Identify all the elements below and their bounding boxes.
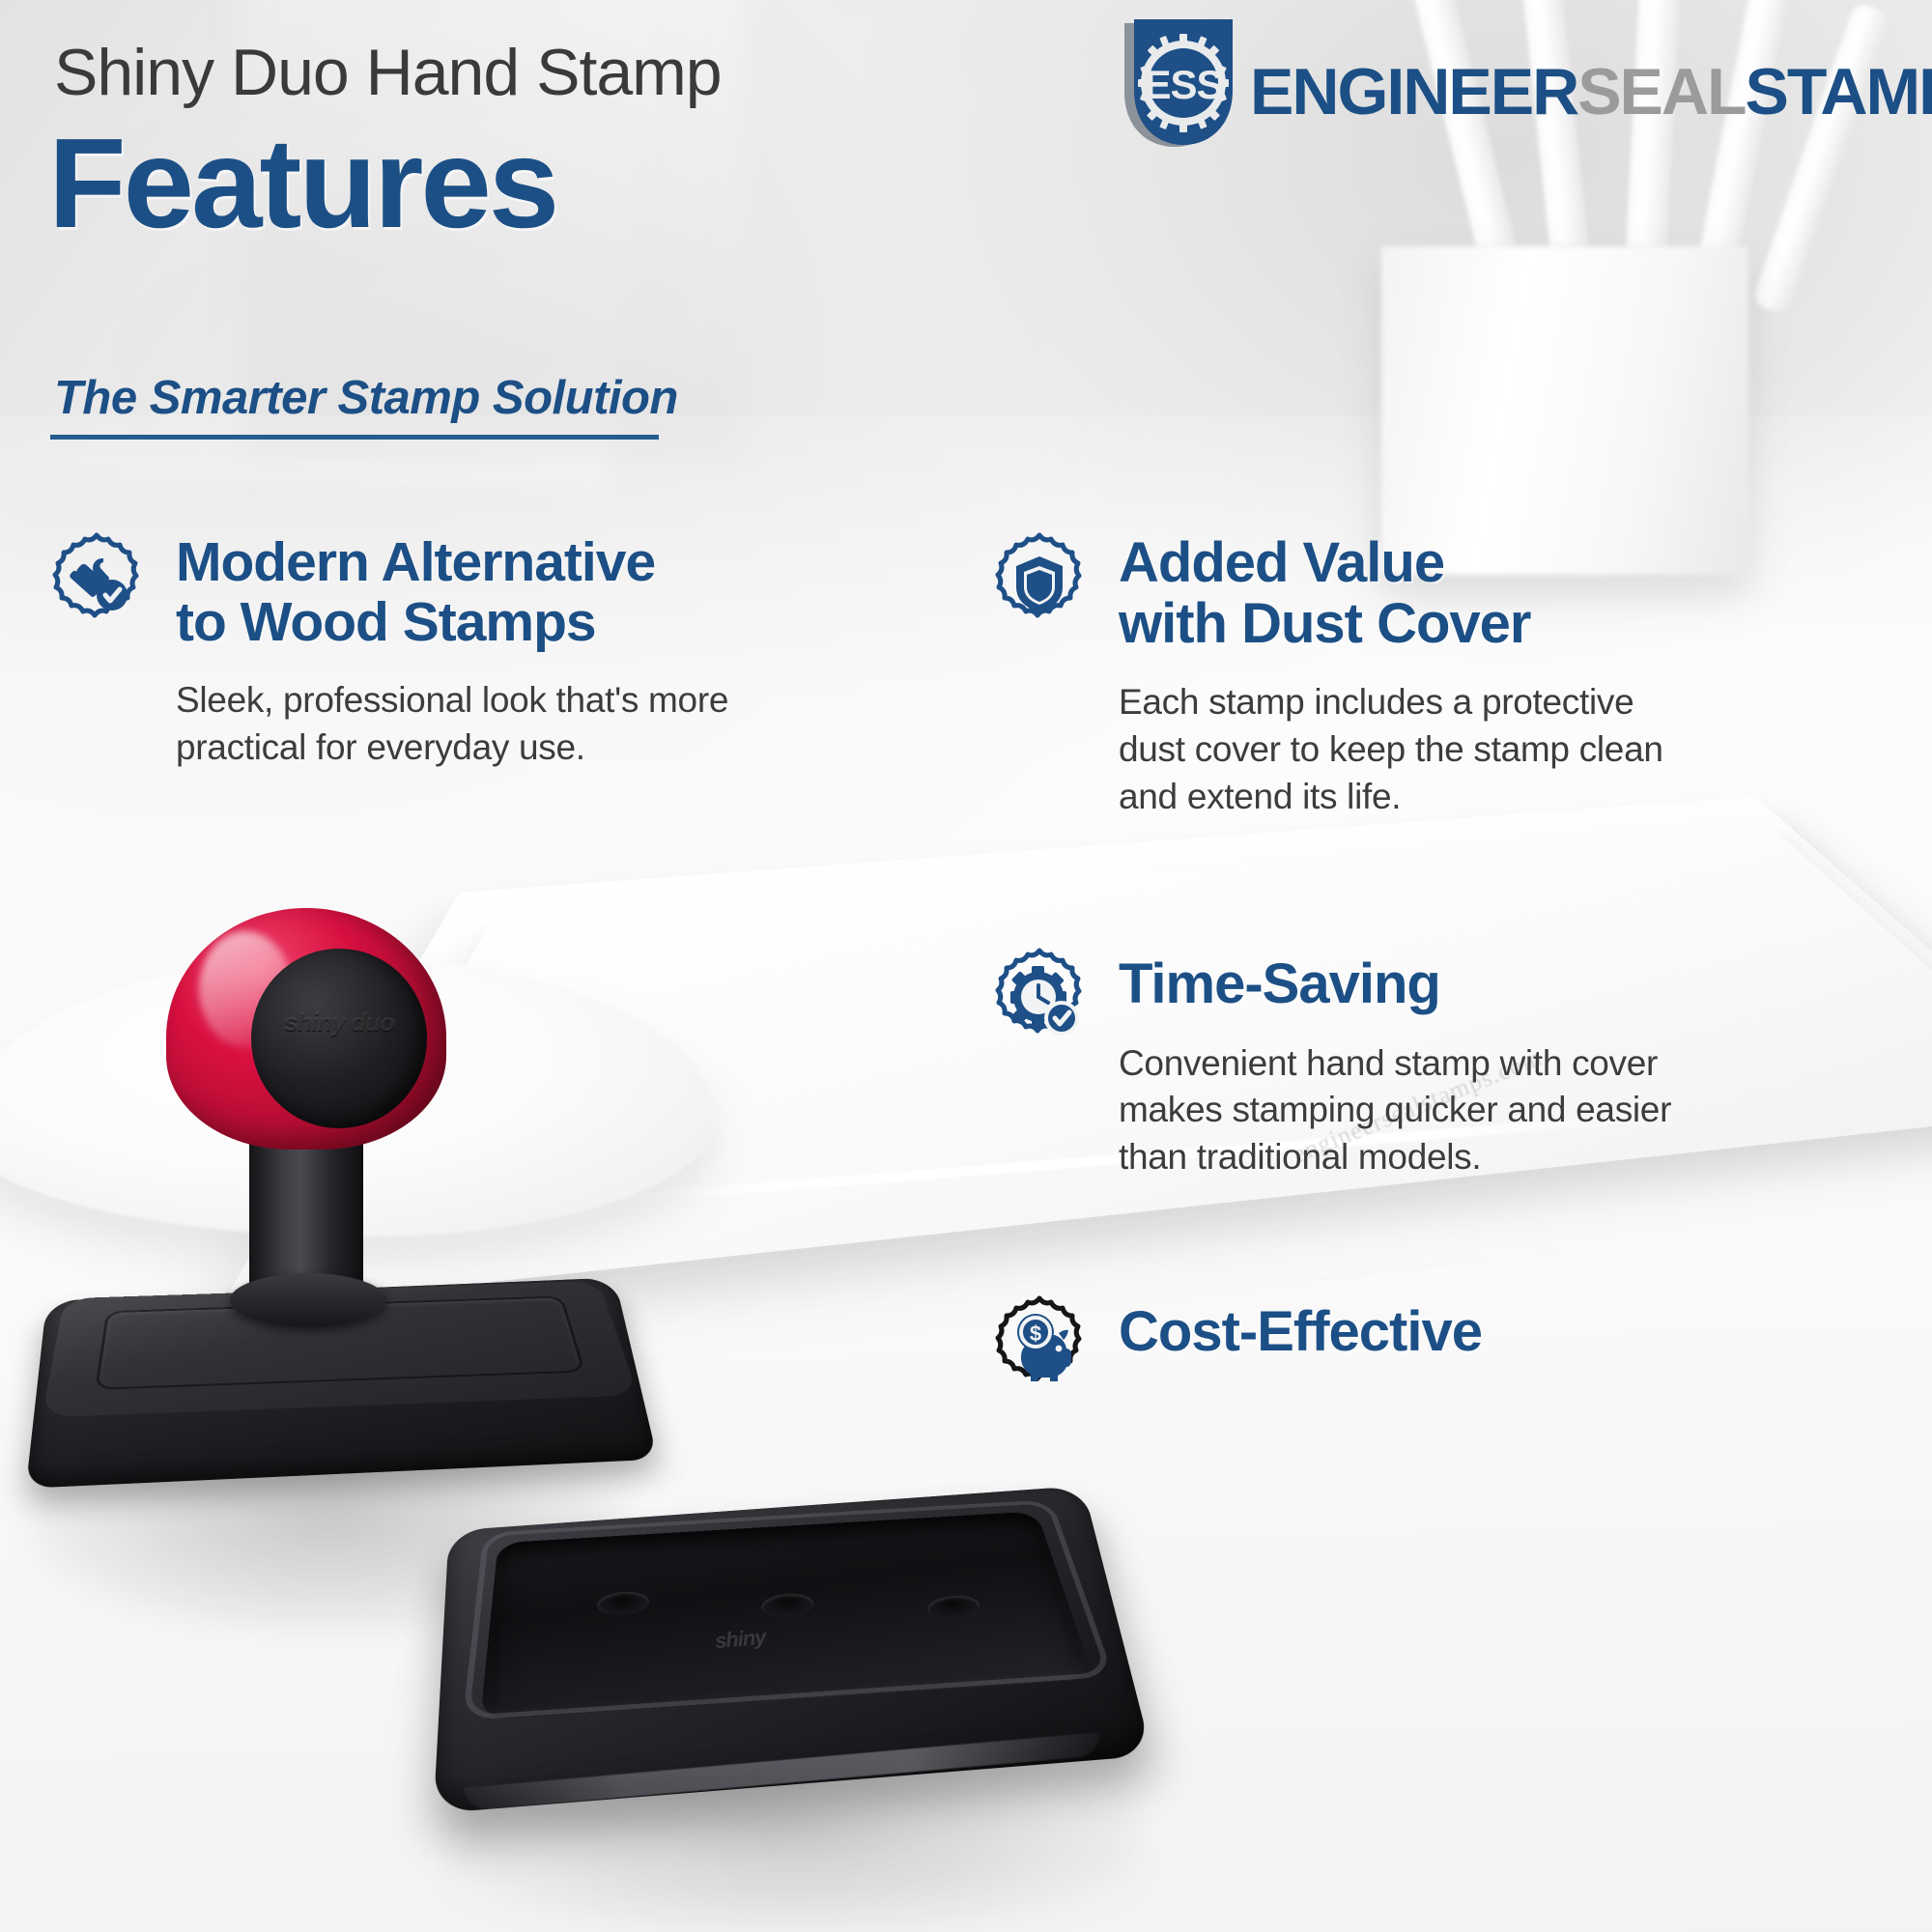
feature-heading: Cost-Effective [1119,1302,1482,1363]
feature-description: Convenient hand stamp with cover makes s… [1119,1040,1671,1181]
gear-clock-check-badge-icon [985,945,1094,1053]
stamp-black-cap [251,949,427,1128]
brand-word-engineer: ENGINEER [1250,59,1577,125]
feature-item-cost-effective: $ Cost-Effective [985,1293,1787,1401]
infographic-canvas: engineersealstamps.com Shiny Duo Hand St… [0,0,1932,1932]
feature-item-added-value: Added Value with Dust Cover Each stamp i… [985,529,1787,821]
page-title: Features [48,120,556,247]
stamp-brand-emboss: shiny duo [276,1007,402,1038]
brand-word-stamps: STAMPS [1746,59,1932,125]
product-dust-cover: shiny [425,1420,1179,1932]
shield-badge-icon [985,529,1094,638]
brand-logo[interactable]: ESS ENGINEERSEALSTAMPS.COM [1113,17,1932,153]
feature-text-block: Cost-Effective [1119,1293,1482,1401]
stamp-tool-check-badge-icon [43,529,151,638]
feature-item-time-saving: Time-Saving Convenient hand stamp with c… [985,945,1787,1181]
feature-item-modern-alternative: Modern Alternative to Wood Stamps Sleek,… [43,529,757,772]
feature-text-block: Time-Saving Convenient hand stamp with c… [1119,945,1671,1181]
piggy-bank-badge-icon: $ [985,1293,1094,1401]
tagline-underline [50,435,659,440]
feature-heading: Added Value with Dust Cover [1119,533,1663,654]
stamp-handle-collar [230,1273,386,1327]
page-tagline: The Smarter Stamp Solution [54,371,678,425]
brand-word-seal: SEAL [1577,59,1745,125]
feature-description: Sleek, professional look that's more pra… [176,677,728,772]
feature-text-block: Modern Alternative to Wood Stamps Sleek,… [176,529,728,772]
pen-holder-body [1381,246,1748,575]
svg-text:$: $ [1030,1321,1041,1346]
brand-wordmark: ENGINEERSEALSTAMPS.COM [1250,45,1932,126]
feature-description: Each stamp includes a protective dust co… [1119,679,1663,820]
page-product-title: Shiny Duo Hand Stamp [54,35,722,110]
cover-brand-emboss: shiny [714,1625,767,1654]
feature-heading: Time-Saving [1119,954,1671,1015]
feature-heading: Modern Alternative to Wood Stamps [176,533,728,652]
ess-shield-icon: ESS [1113,17,1236,153]
svg-text:ESS: ESS [1144,62,1222,107]
feature-text-block: Added Value with Dust Cover Each stamp i… [1119,529,1663,821]
